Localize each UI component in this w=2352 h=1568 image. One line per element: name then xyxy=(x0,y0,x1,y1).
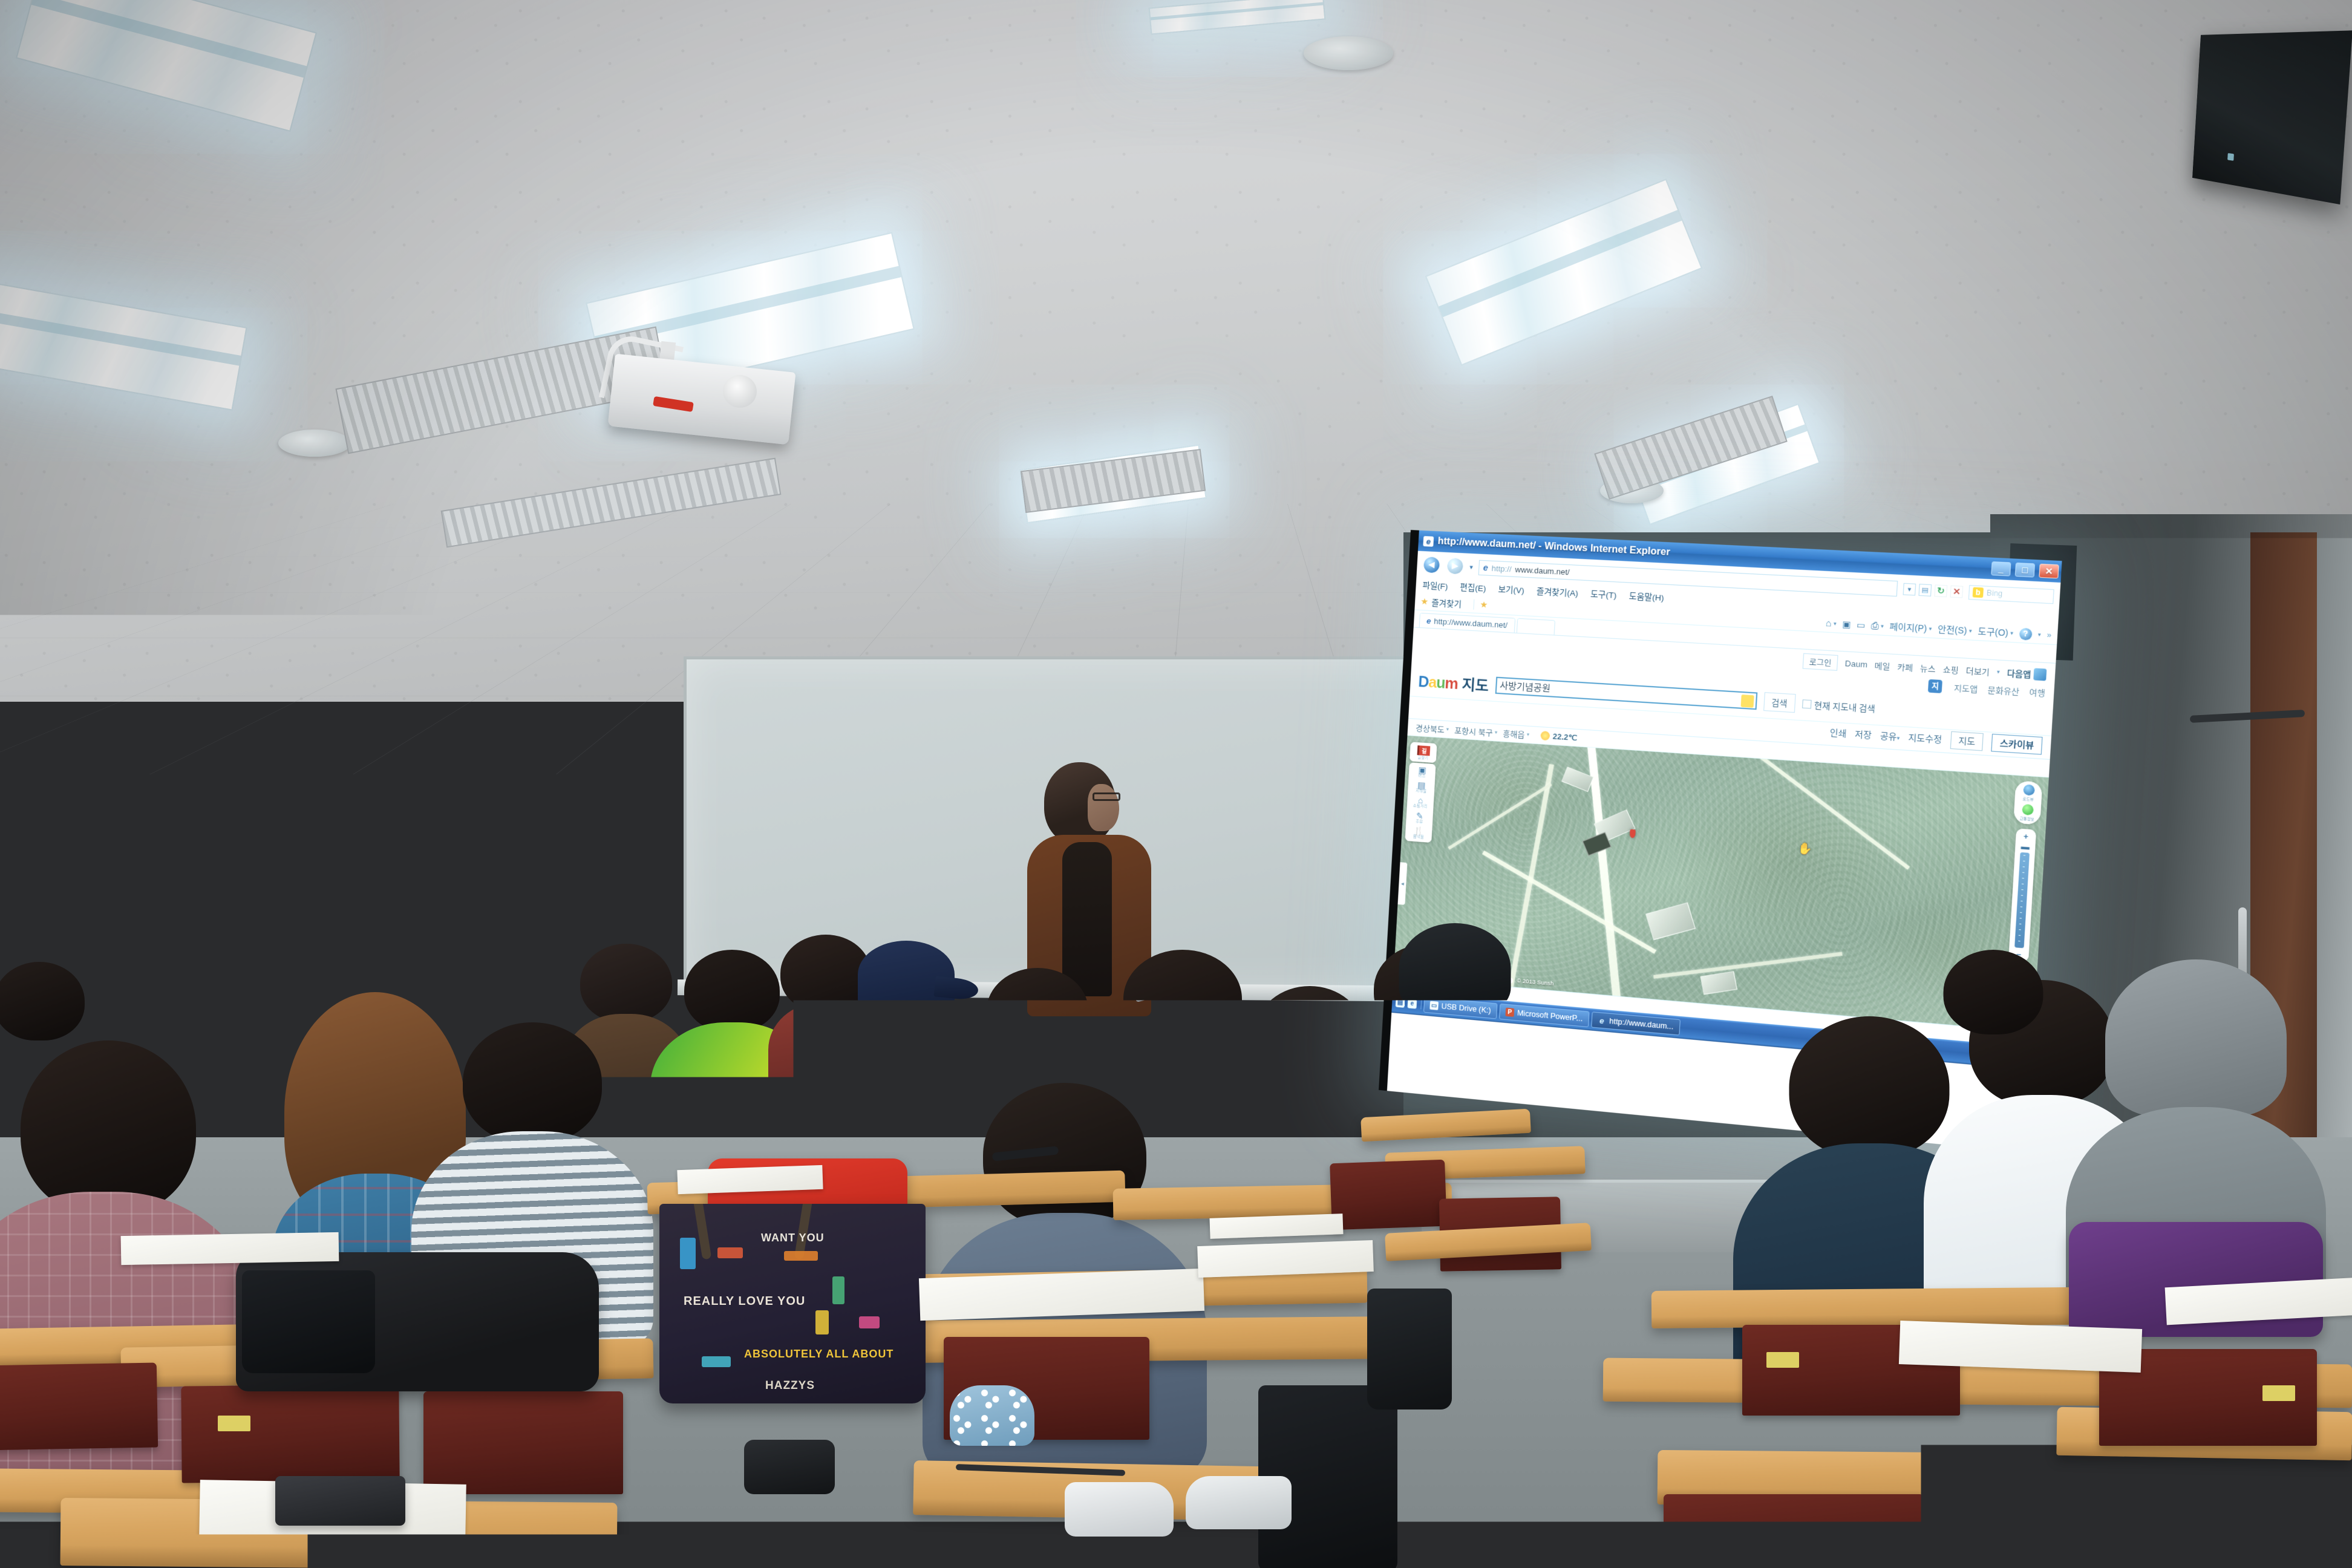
map-category-subway[interactable]: ▤ 지하철 xyxy=(1409,780,1434,795)
address-url-domain: www.daum.net/ xyxy=(1515,564,1570,577)
notes-paper-3[interactable] xyxy=(1899,1321,2142,1373)
sub-link-mapapp[interactable]: 지도앱 xyxy=(1954,681,1978,694)
map-category-store[interactable]: ⌂ 쇼핑거리 xyxy=(1408,795,1433,810)
menu-favorites[interactable]: 즐겨찾기(A) xyxy=(1536,584,1578,599)
classroom-scene: e http://www.daum.net/ - Windows Interne… xyxy=(0,0,2352,1568)
search-in-map-checkbox[interactable] xyxy=(1802,699,1811,708)
sub-link-travel[interactable]: 여행 xyxy=(2029,686,2046,699)
zoom-slider-track[interactable] xyxy=(2014,852,2030,949)
instructor-face xyxy=(1088,784,1119,831)
tool-share[interactable]: 공유▾ xyxy=(1880,730,1900,743)
tool-print[interactable]: 인쇄 xyxy=(1829,727,1847,740)
ie-icon: e xyxy=(1597,1016,1606,1025)
breadcrumb-city[interactable]: 포항시 북구▾ xyxy=(1454,724,1498,739)
polka-dot-pouch[interactable] xyxy=(950,1385,1034,1446)
map-category-restaurant[interactable]: 🍴 음식점 xyxy=(1406,826,1431,840)
wall-speaker-left xyxy=(552,587,655,652)
stop-icon[interactable]: ✕ xyxy=(1950,585,1964,598)
pencil-case[interactable] xyxy=(275,1476,405,1526)
tools-menu[interactable]: 도구(O)▾ xyxy=(1978,625,2014,639)
search-provider-placeholder: Bing xyxy=(1987,589,2003,598)
chair-asset-label xyxy=(2262,1385,2295,1401)
student-head xyxy=(684,950,780,1032)
window-mullion xyxy=(187,883,192,993)
tool-save[interactable]: 저장 xyxy=(1855,728,1872,741)
restaurant-icon: 🍴 xyxy=(1413,826,1424,835)
tote-doodle xyxy=(859,1316,880,1328)
home-icon[interactable]: ⌂▾ xyxy=(1826,618,1837,629)
map-category-group: ▣ 버스 ▤ 지하철 ⌂ 쇼핑거리 ✎ 주유 xyxy=(1405,762,1436,843)
address-dropdown-icon[interactable]: ▾ xyxy=(1903,583,1916,595)
tote-doodle xyxy=(717,1247,743,1258)
student-head xyxy=(1944,950,2043,1034)
student-far-right-back xyxy=(1924,950,2063,1107)
back-button[interactable]: ◄ xyxy=(1422,555,1442,575)
zoom-in-button[interactable]: + xyxy=(2019,831,2033,841)
map-left-panel: 길 길찾기 ▣ 버스 ▤ 지하철 ⌂ xyxy=(1405,742,1437,843)
baseball-cap xyxy=(858,941,955,1008)
weather-widget: 22.2℃ xyxy=(1540,731,1578,743)
tote-bag[interactable]: WANT YOU REALLY LOVE YOU ABSOLUTELY ALL … xyxy=(659,1204,926,1403)
shoe-white-2 xyxy=(1186,1476,1292,1529)
view-tab-skyview[interactable]: 스카이뷰 xyxy=(1991,734,2043,755)
ie-favicon-icon: e xyxy=(1423,536,1434,547)
bing-icon: b xyxy=(1973,587,1984,598)
notes-paper-2[interactable] xyxy=(1197,1240,1374,1278)
tool-edit-map[interactable]: 지도수정 xyxy=(1908,731,1942,746)
bus-icon: ▣ xyxy=(1418,765,1426,774)
favorites-star-icon[interactable]: ★ xyxy=(1420,596,1429,607)
gnb-link-cafe[interactable]: 카페 xyxy=(1897,661,1913,673)
student-head xyxy=(463,1022,602,1143)
gnb-link-more[interactable]: 더보기 xyxy=(1965,664,1990,678)
roadview-button[interactable]: 로드뷰 xyxy=(2022,784,2034,802)
tab-favicon-icon: e xyxy=(1426,616,1431,626)
search-in-map-label: 현재 지도내 검색 xyxy=(1814,698,1875,714)
roadview-icon xyxy=(2023,784,2035,795)
tote-text-1: WANT YOU xyxy=(761,1232,825,1244)
menu-file[interactable]: 파일(F) xyxy=(1422,578,1448,592)
help-icon[interactable]: ? xyxy=(2019,627,2032,640)
map-category-bus[interactable]: ▣ 버스 xyxy=(1410,765,1434,780)
toolbar-overflow-icon[interactable]: » xyxy=(2047,630,2051,639)
map-app-icon: 지 xyxy=(1928,679,1942,693)
daum-app-icon xyxy=(2033,668,2047,681)
login-button[interactable]: 로그인 xyxy=(1802,653,1838,671)
taskbar-button-internet-explorer[interactable]: e http://www.daum... xyxy=(1591,1011,1681,1035)
student-head xyxy=(580,944,672,1022)
minimize-button[interactable]: _ xyxy=(1991,561,2011,577)
tote-doodle xyxy=(784,1251,818,1261)
refresh-icon[interactable]: ↻ xyxy=(1934,584,1947,597)
backpack-under-desk-3[interactable] xyxy=(242,1270,375,1373)
map-search-value: 사방기념공원 xyxy=(1500,679,1551,694)
corner-speaker xyxy=(2192,30,2352,204)
chair-right-3[interactable] xyxy=(1664,1494,1924,1568)
tote-doodle xyxy=(832,1276,844,1304)
tote-doodle xyxy=(702,1356,731,1367)
map-product-label: 지도 xyxy=(1462,672,1489,695)
gnb-more-caret-icon[interactable]: ▾ xyxy=(1997,668,2001,676)
map-category-fuel[interactable]: ✎ 주유 xyxy=(1407,811,1432,825)
feeds-icon[interactable]: ▣ xyxy=(1842,619,1851,630)
desk-right-5 xyxy=(2068,1498,2352,1568)
page-menu[interactable]: 페이지(P)▾ xyxy=(1889,620,1932,635)
view-tab-map[interactable]: 지도 xyxy=(1950,731,1984,751)
map-search-button[interactable]: 검색 xyxy=(1763,692,1795,713)
shoe-dark xyxy=(744,1440,835,1494)
map-view-toggles: 로드뷰 교통정보 xyxy=(2013,780,2042,825)
weather-temperature: 22.2℃ xyxy=(1552,731,1578,743)
glasses-icon xyxy=(1093,792,1120,801)
chair-front-left-2[interactable] xyxy=(181,1384,399,1483)
hoodie-hood xyxy=(1399,923,1511,1014)
map-zoom-control[interactable]: + ▬ − xyxy=(2008,828,2036,962)
hoodie-hood xyxy=(2105,959,2287,1117)
speaker-led-icon xyxy=(2227,153,2234,161)
new-tab-button[interactable] xyxy=(1516,618,1555,635)
window-mullion xyxy=(96,883,101,993)
recent-pages-caret-icon[interactable]: ▾ xyxy=(1469,563,1473,570)
chair-front-left-1[interactable] xyxy=(0,1362,158,1450)
student-head xyxy=(472,950,563,1027)
tote-doodle xyxy=(815,1310,829,1334)
tote-text-2: REALLY LOVE YOU xyxy=(684,1295,805,1308)
student-head xyxy=(0,962,85,1040)
chair-asset-label xyxy=(1766,1352,1799,1368)
subway-icon: ▤ xyxy=(1417,781,1426,790)
tote-text-3: ABSOLUTELY ALL ABOUT xyxy=(744,1348,893,1361)
smoke-detector-3 xyxy=(278,430,351,457)
address-favicon-icon: e xyxy=(1483,563,1489,572)
student-black-hoodie xyxy=(1385,932,1524,1131)
chair-asset-label xyxy=(218,1416,250,1431)
gnb-link-shopping[interactable]: 쇼핑 xyxy=(1942,663,1959,676)
gnb-link-daum[interactable]: Daum xyxy=(1844,659,1867,670)
student-head xyxy=(987,968,1088,1053)
address-url-prefix: http:// xyxy=(1491,563,1512,573)
menu-edit[interactable]: 편집(E) xyxy=(1460,580,1486,593)
shoe-white-1 xyxy=(1065,1482,1174,1537)
pen-icon: ✎ xyxy=(1416,811,1423,820)
menu-help[interactable]: 도움말(H) xyxy=(1628,589,1664,603)
map-directions-button[interactable]: 길 길찾기 xyxy=(1410,742,1437,763)
print-icon[interactable]: ⎙▾ xyxy=(1870,620,1884,632)
store-icon: ⌂ xyxy=(1418,796,1423,805)
taskbar-label: Microsoft PowerP... xyxy=(1517,1008,1583,1023)
flag-icon: 길 xyxy=(1417,745,1430,756)
gnb-link-news[interactable]: 뉴스 xyxy=(1919,662,1936,675)
traffic-icon xyxy=(2022,804,2034,815)
chair-back-mid-1[interactable] xyxy=(1330,1160,1447,1230)
smoke-detector-1 xyxy=(1304,36,1393,70)
daum-map-logo[interactable]: Daum 지도 xyxy=(1418,670,1489,695)
toolbar-divider xyxy=(1474,599,1475,609)
backpack-under-desk-2[interactable] xyxy=(1367,1289,1452,1410)
tote-text-4: HAZZYS xyxy=(765,1379,815,1393)
breadcrumb-province[interactable]: 경상북도▾ xyxy=(1416,722,1449,736)
student-glasses-left xyxy=(0,962,97,1089)
favorites-label[interactable]: 즐겨찾기 xyxy=(1431,596,1462,610)
forward-button[interactable]: ► xyxy=(1446,557,1465,576)
gnb-link-mail[interactable]: 메일 xyxy=(1874,659,1890,672)
search-clear-icon[interactable] xyxy=(1740,694,1754,708)
breadcrumb-town[interactable]: 흥해읍▾ xyxy=(1503,727,1530,740)
student-head xyxy=(1123,950,1242,1048)
compatibility-view-icon[interactable]: ▤ xyxy=(1919,584,1932,596)
close-button[interactable]: ✕ xyxy=(2039,564,2059,579)
daum-wordmark: Daum xyxy=(1418,673,1459,693)
zoom-level-marker[interactable]: ▬ xyxy=(2019,841,2033,851)
window-blind[interactable] xyxy=(0,544,284,883)
daum-app-link[interactable]: 다음앱 xyxy=(2007,667,2047,681)
tab-label: http://www.daum.net/ xyxy=(1434,616,1508,630)
safety-menu[interactable]: 안전(S)▾ xyxy=(1938,622,1973,637)
map-hand-cursor-icon: ✋ xyxy=(1797,842,1812,856)
taskbar-label: http://www.daum... xyxy=(1609,1017,1674,1031)
sun-icon xyxy=(1540,731,1550,740)
search-in-map-checkbox-wrap[interactable]: 현재 지도내 검색 xyxy=(1802,697,1875,714)
sub-link-heritage[interactable]: 문화유산 xyxy=(1987,684,2020,697)
tote-doodle xyxy=(680,1238,696,1269)
read-mail-icon[interactable]: ▭ xyxy=(1857,619,1866,630)
menu-tools[interactable]: 도구(T) xyxy=(1590,587,1617,601)
notes-paper-7[interactable] xyxy=(677,1165,823,1194)
chair-front-left-3[interactable] xyxy=(423,1391,623,1494)
notes-paper-6[interactable] xyxy=(121,1232,339,1265)
traffic-button[interactable]: 교통정보 xyxy=(2019,804,2035,822)
add-to-favorites-icon[interactable]: ★ xyxy=(1480,599,1489,610)
maximize-button[interactable]: □ xyxy=(2015,563,2035,578)
search-provider-box[interactable]: b Bing xyxy=(1968,585,2054,604)
menu-view[interactable]: 보기(V) xyxy=(1498,583,1524,596)
